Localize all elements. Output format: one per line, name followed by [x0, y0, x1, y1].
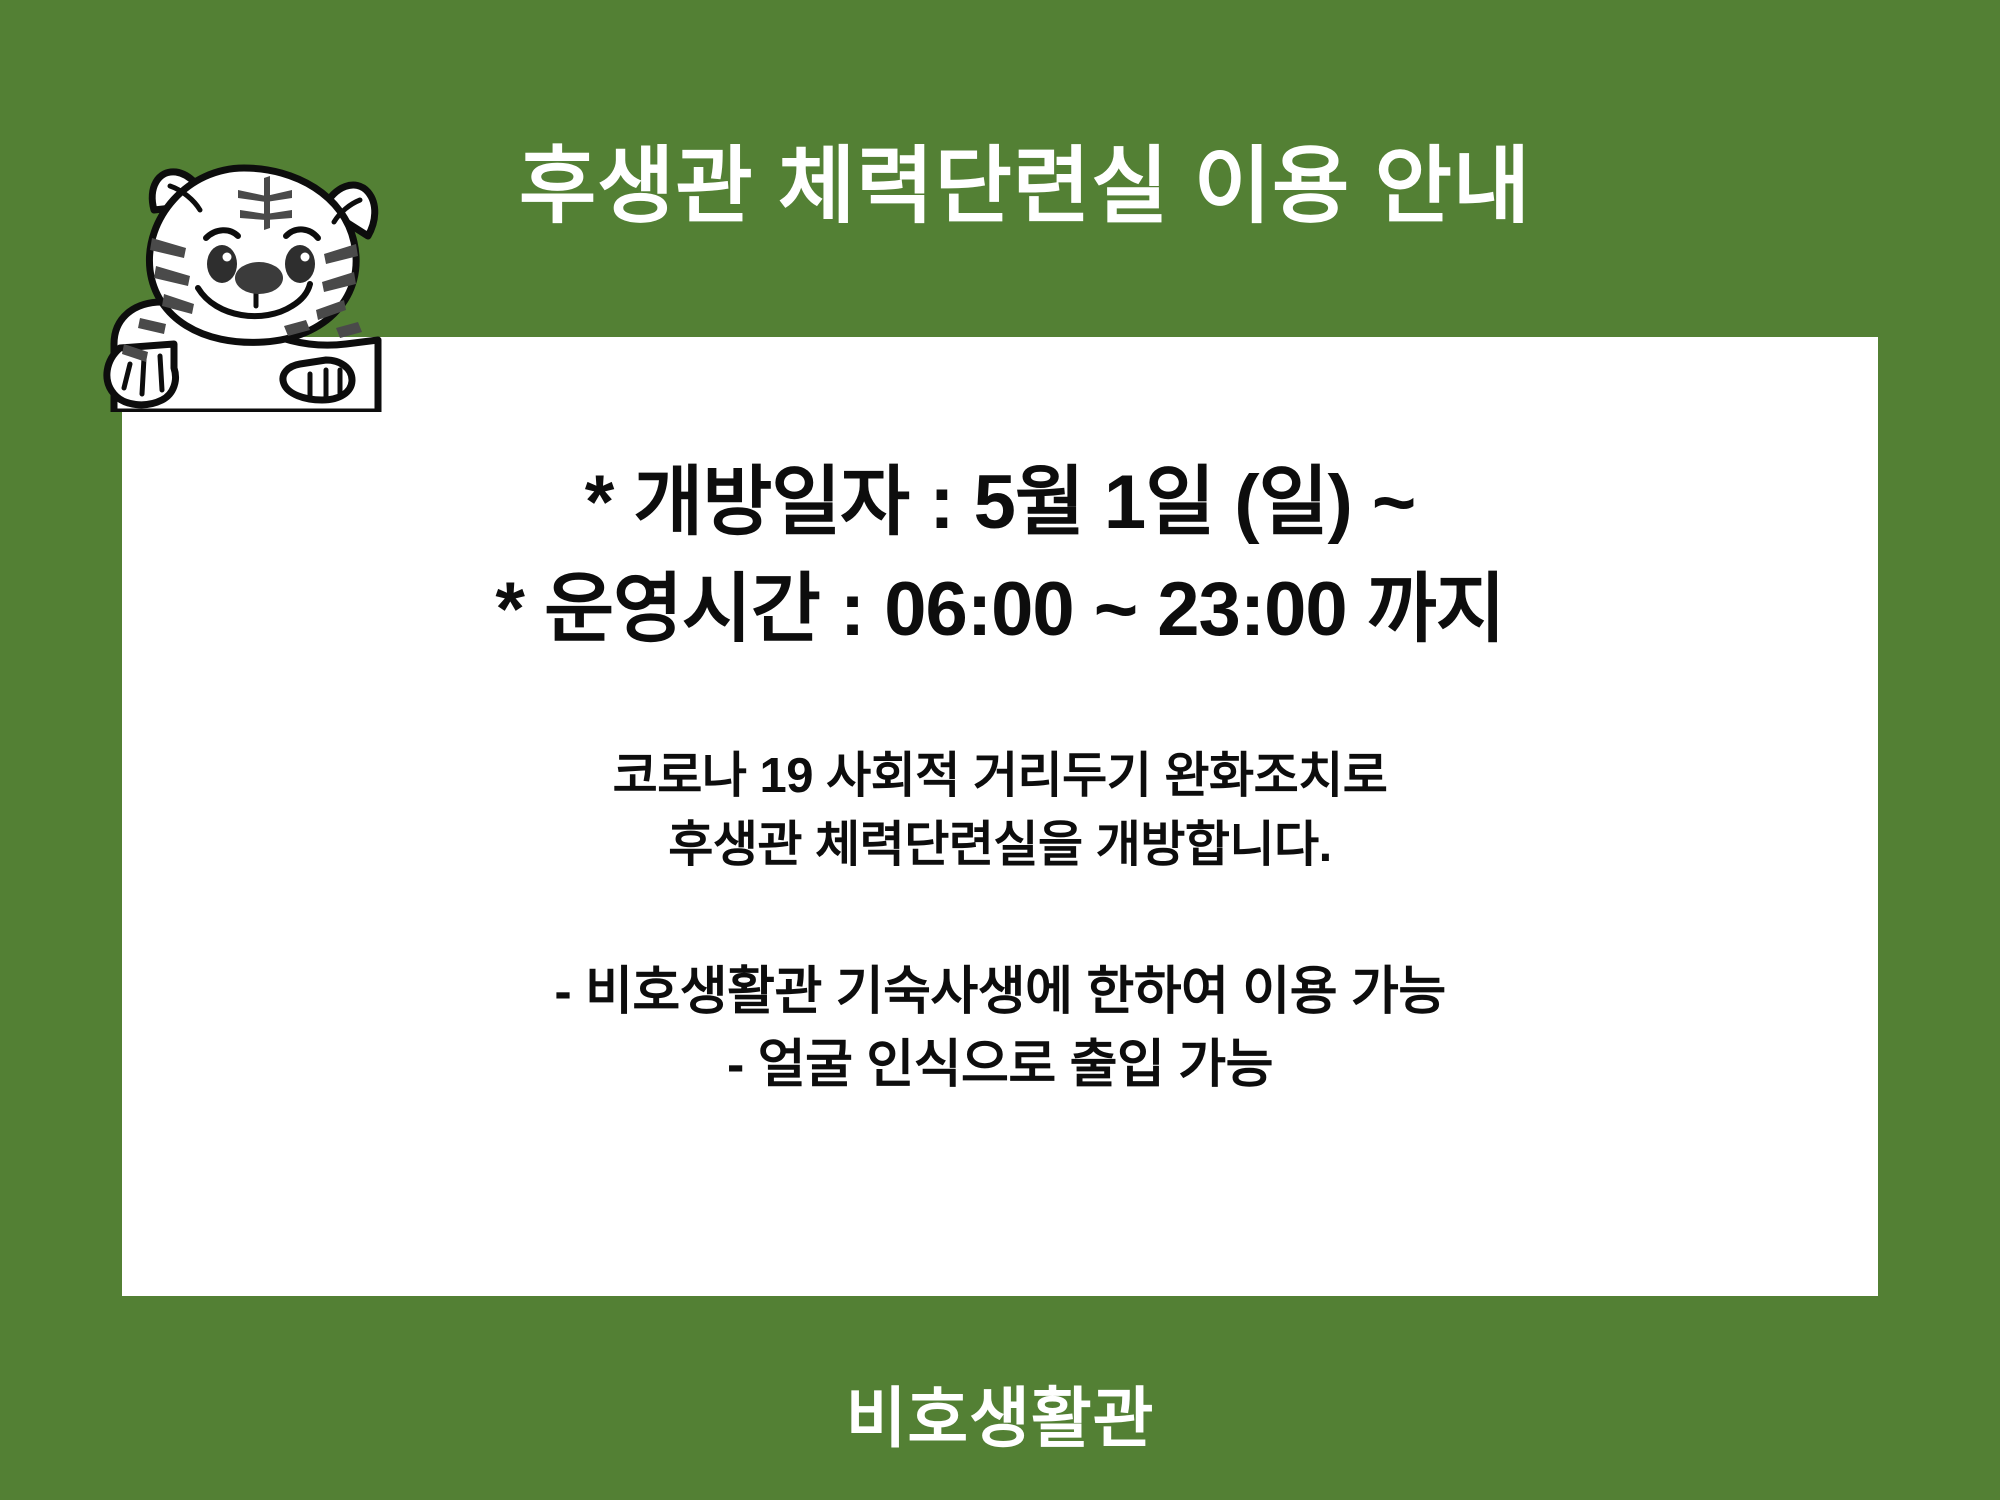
- tiger-right-ear: [324, 185, 375, 236]
- tiger-head: [149, 168, 356, 342]
- tiger-forehead-stripes: [238, 176, 292, 230]
- notes-list: - 비호생활관 기숙사생에 한하여 이용 가능 - 얼굴 인식으로 출입 가능: [554, 956, 1445, 1104]
- headline-open-date: * 개방일자 : 5월 1일 (일) ~: [585, 457, 1416, 550]
- body-paragraph: 코로나 19 사회적 거리두기 완화조치로 후생관 체력단련실을 개방합니다.: [613, 742, 1388, 879]
- tiger-smile: [198, 284, 310, 316]
- tiger-left-eye: [207, 245, 237, 283]
- content-inner: * 개방일자 : 5월 1일 (일) ~ * 운영시간 : 06:00 ~ 23…: [122, 337, 1878, 1296]
- poster-footer: 비호생활관: [0, 1365, 2000, 1461]
- tiger-left-eyebrow: [206, 230, 238, 238]
- note-line-2: - 얼굴 인식으로 출입 가능: [554, 1029, 1445, 1103]
- tiger-cheek-stripes: [150, 238, 358, 320]
- notice-poster: 후생관 체력단련실 이용 안내: [0, 0, 2000, 1500]
- note-line-1: - 비호생활관 기숙사생에 한하여 이용 가능: [554, 956, 1445, 1030]
- tiger-left-ear-inner: [170, 186, 200, 210]
- tiger-right-eye: [285, 245, 315, 283]
- tiger-right-eye-highlight: [301, 253, 310, 262]
- tiger-right-ear-inner: [334, 200, 360, 222]
- tiger-nose: [235, 262, 283, 294]
- page-title: 후생관 체력단련실 이용 안내: [400, 142, 1650, 230]
- headline-operating-hours: * 운영시간 : 06:00 ~ 23:00 까지: [495, 564, 1504, 657]
- tiger-left-ear: [152, 172, 208, 210]
- body-line-2: 후생관 체력단련실을 개방합니다.: [613, 811, 1388, 880]
- body-line-1: 코로나 19 사회적 거리두기 완화조치로: [613, 742, 1388, 811]
- content-panel: * 개방일자 : 5월 1일 (일) ~ * 운영시간 : 06:00 ~ 23…: [122, 337, 1878, 1296]
- tiger-left-eye-highlight: [223, 253, 232, 262]
- tiger-right-eyebrow: [286, 229, 318, 238]
